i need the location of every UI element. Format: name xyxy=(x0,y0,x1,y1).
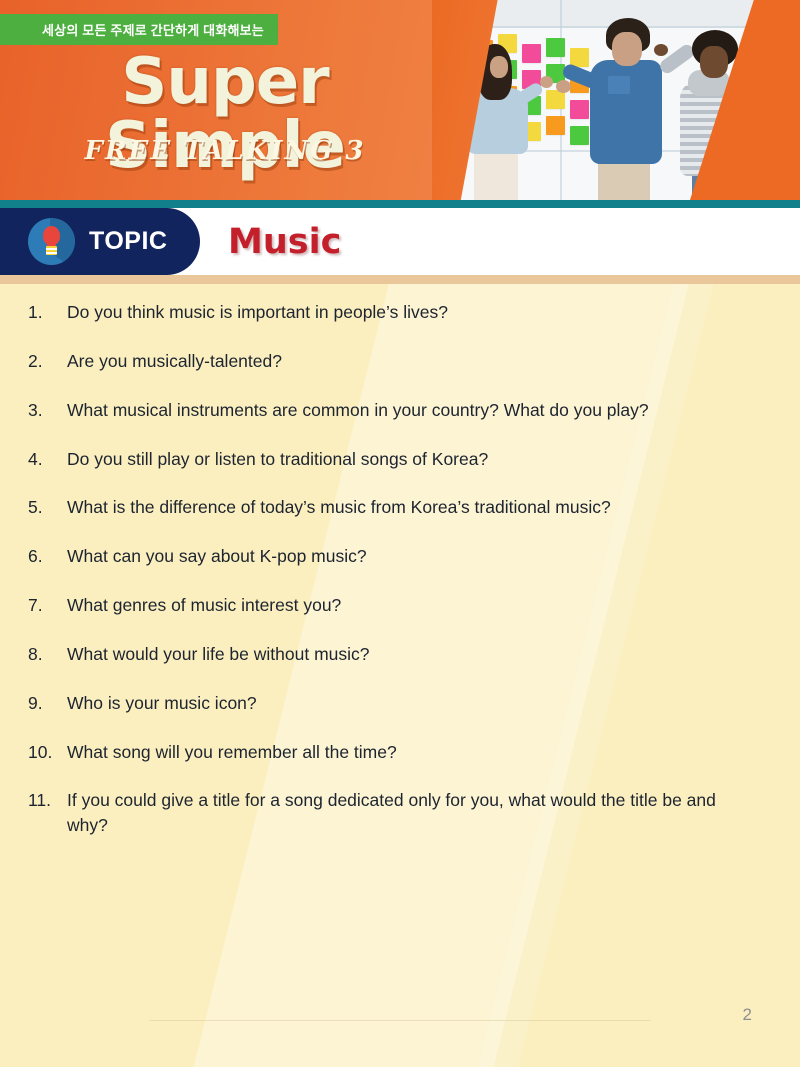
question-text: If you could give a title for a song ded… xyxy=(67,788,727,838)
sticky-note xyxy=(570,126,589,145)
korean-tagline-ribbon: 세상의 모든 주제로 간단하게 대화해보는 xyxy=(0,14,278,45)
question-number: 11. xyxy=(28,788,67,838)
question-item: 11.If you could give a title for a song … xyxy=(0,788,760,838)
footer-divider xyxy=(150,1020,650,1021)
question-item: 3.What musical instruments are common in… xyxy=(0,398,760,423)
teal-divider-strip xyxy=(0,200,800,208)
question-number: 9. xyxy=(28,691,67,716)
question-number: 5. xyxy=(28,495,67,520)
tan-divider-strip xyxy=(0,275,800,284)
question-text: Are you musically-talented? xyxy=(67,349,727,374)
question-item: 10.What song will you remember all the t… xyxy=(0,740,760,765)
sticky-note xyxy=(546,38,565,57)
header-banner: 세상의 모든 주제로 간단하게 대화해보는 Super Simple FREE … xyxy=(0,0,800,200)
question-item: 9.Who is your music icon? xyxy=(0,691,760,716)
topic-label: TOPIC xyxy=(89,227,167,256)
question-item: 6.What can you say about K-pop music? xyxy=(0,544,760,569)
question-item: 8.What would your life be without music? xyxy=(0,642,760,667)
brand-subtitle: FREE TALKING 3 xyxy=(0,136,450,166)
question-text: What can you say about K-pop music? xyxy=(67,544,727,569)
question-item: 2.Are you musically-talented? xyxy=(0,349,760,374)
lightbulb-icon xyxy=(28,218,75,265)
question-number: 7. xyxy=(28,593,67,618)
sticky-note xyxy=(570,100,589,119)
question-number: 10. xyxy=(28,740,67,765)
question-list: 1.Do you think music is important in peo… xyxy=(0,300,760,862)
question-text: What genres of music interest you? xyxy=(67,593,727,618)
question-number: 4. xyxy=(28,447,67,472)
question-text: Do you think music is important in peopl… xyxy=(67,300,727,325)
question-text: What musical instruments are common in y… xyxy=(67,398,727,423)
question-item: 1.Do you think music is important in peo… xyxy=(0,300,760,325)
topic-title: Music xyxy=(228,222,341,262)
page-number: 2 xyxy=(743,1005,752,1025)
question-text: What would your life be without music? xyxy=(67,642,727,667)
question-item: 5.What is the difference of today’s musi… xyxy=(0,495,760,520)
question-text: Who is your music icon? xyxy=(67,691,727,716)
question-text: Do you still play or listen to tradition… xyxy=(67,447,727,472)
question-number: 6. xyxy=(28,544,67,569)
korean-tagline-text: 세상의 모든 주제로 간단하게 대화해보는 xyxy=(42,20,264,39)
question-item: 7.What genres of music interest you? xyxy=(0,593,760,618)
question-item: 4.Do you still play or listen to traditi… xyxy=(0,447,760,472)
slide-page: 세상의 모든 주제로 간단하게 대화해보는 Super Simple FREE … xyxy=(0,0,800,1067)
question-number: 8. xyxy=(28,642,67,667)
topic-pill: TOPIC xyxy=(0,208,200,275)
question-text: What song will you remember all the time… xyxy=(67,740,727,765)
question-number: 3. xyxy=(28,398,67,423)
question-text: What is the difference of today’s music … xyxy=(67,495,727,520)
sticky-note xyxy=(546,116,565,135)
question-number: 1. xyxy=(28,300,67,325)
question-number: 2. xyxy=(28,349,67,374)
